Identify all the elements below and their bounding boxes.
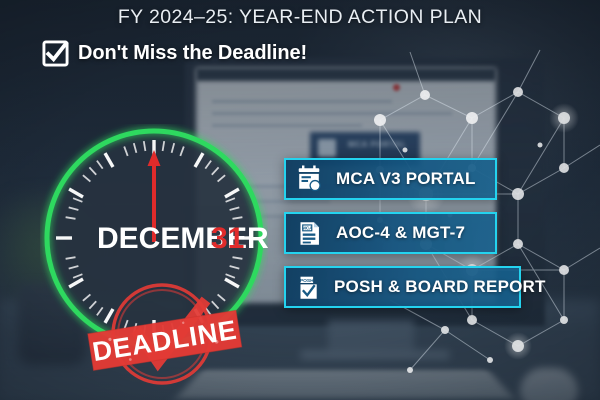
action-bar-mca-v3-portal[interactable]: MCA V3 PORTAL — [284, 158, 497, 200]
action-bar-label: POSH & BOARD REPORT — [334, 277, 546, 297]
poster-canvas: MCA PORTAL — [0, 0, 600, 400]
action-bar-posh-board-report[interactable]: POSH POSH & BOARD REPORT — [284, 266, 521, 308]
action-bar-aoc4-mgt7[interactable]: MCA AOC-4 & MGT-7 — [284, 212, 497, 254]
subtitle-row: Don't Miss the Deadline! — [42, 40, 307, 67]
mca-document-icon: MCA — [292, 220, 326, 247]
clock-day-label: 31 — [211, 222, 244, 255]
action-bar-label: MCA V3 PORTAL — [336, 169, 476, 189]
svg-text:MCA: MCA — [301, 225, 312, 230]
deadline-stamp: DEADLINE — [66, 278, 262, 388]
mca-portal-icon — [292, 165, 326, 193]
checkbox-checked-icon — [42, 40, 69, 67]
svg-text:POSH: POSH — [299, 277, 313, 283]
subtitle-text: Don't Miss the Deadline! — [78, 42, 307, 65]
network-nodes-overlay — [350, 0, 600, 400]
posh-checkbox-icon: POSH — [292, 274, 326, 301]
page-title: FY 2024–25: YEAR-END ACTION PLAN — [0, 6, 600, 29]
action-bar-label: AOC-4 & MGT-7 — [336, 223, 465, 243]
